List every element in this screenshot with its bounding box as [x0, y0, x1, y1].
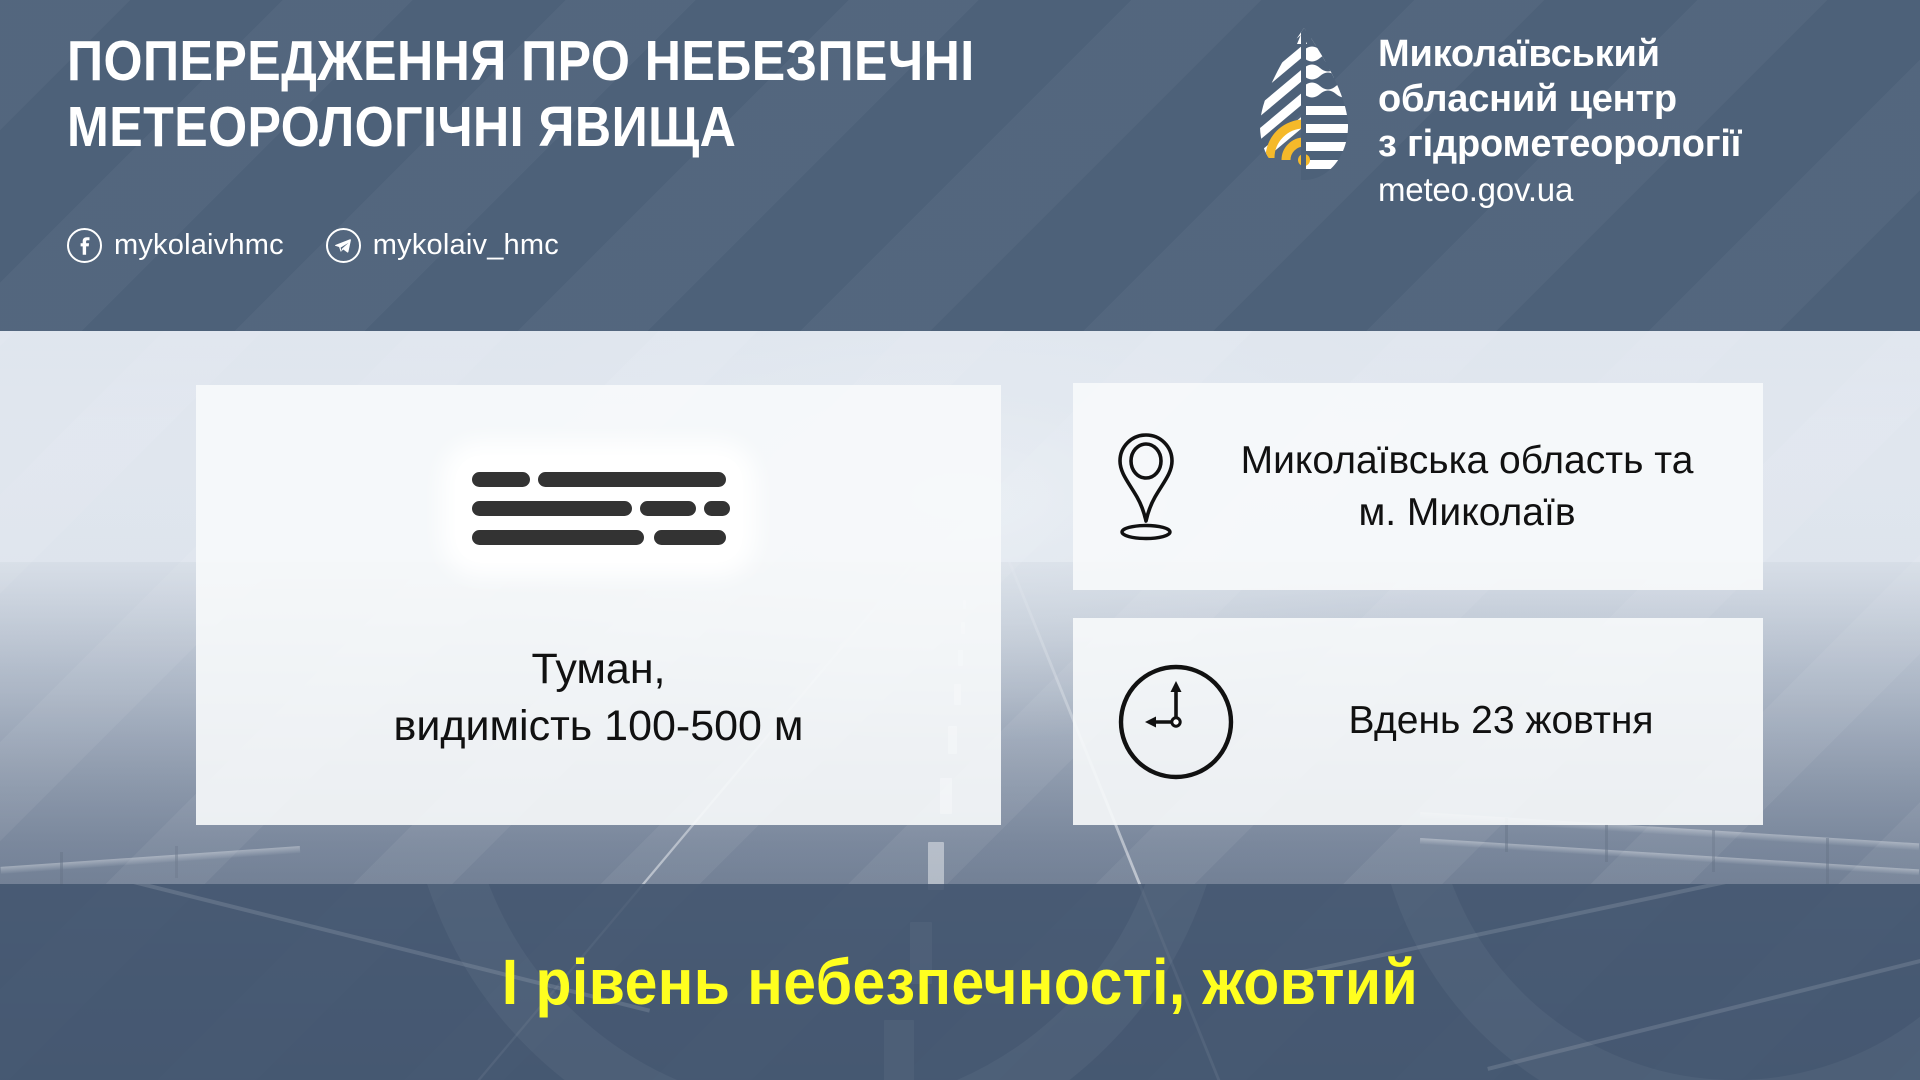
time-description: Вдень 23 жовтня — [1265, 696, 1737, 747]
location-card: Миколаївська область та м. Миколаїв — [1073, 383, 1763, 590]
social-link-telegram[interactable]: mykolaiv_hmc — [326, 228, 559, 263]
fog-icon — [468, 468, 730, 550]
social-link-facebook[interactable]: mykolaivhmc — [67, 228, 284, 263]
phenomenon-card: Туман, видимість 100-500 м — [196, 385, 1001, 825]
logo-text-block: Миколаївський обласний центр з гідромете… — [1378, 26, 1741, 210]
map-pin-icon — [1115, 431, 1177, 543]
organization-website-url: meteo.gov.ua — [1378, 170, 1741, 210]
hydrometeorology-droplet-logo-icon — [1252, 26, 1356, 186]
phenomenon-description: Туман, видимість 100-500 м — [394, 641, 804, 755]
header-bar: ПОПЕРЕДЖЕННЯ ПРО НЕБЕЗПЕЧНІ МЕТЕОРОЛОГІЧ… — [0, 0, 1920, 331]
organization-name: Миколаївський обласний центр з гідромете… — [1378, 32, 1741, 166]
danger-level-banner: І рівень небезпечності, жовтий — [0, 884, 1920, 1080]
facebook-icon — [67, 228, 102, 263]
location-description: Миколаївська область та м. Миколаїв — [1197, 435, 1737, 538]
telegram-icon — [326, 228, 361, 263]
danger-level-text: І рівень небезпечності, жовтий — [77, 884, 1843, 1080]
main-content-area: Туман, видимість 100-500 м Миколаївська … — [0, 331, 1920, 884]
social-handle-telegram: mykolaiv_hmc — [373, 229, 559, 262]
social-links-row: mykolaivhmc mykolaiv_hmc — [67, 228, 559, 263]
clock-icon — [1115, 661, 1237, 783]
page-title: ПОПЕРЕДЖЕННЯ ПРО НЕБЕЗПЕЧНІ МЕТЕОРОЛОГІЧ… — [67, 28, 1114, 160]
social-handle-facebook: mykolaivhmc — [114, 229, 284, 262]
fog-icon-container — [455, 455, 743, 563]
organization-logo[interactable]: Миколаївський обласний центр з гідромете… — [1252, 26, 1741, 210]
time-card: Вдень 23 жовтня — [1073, 618, 1763, 825]
